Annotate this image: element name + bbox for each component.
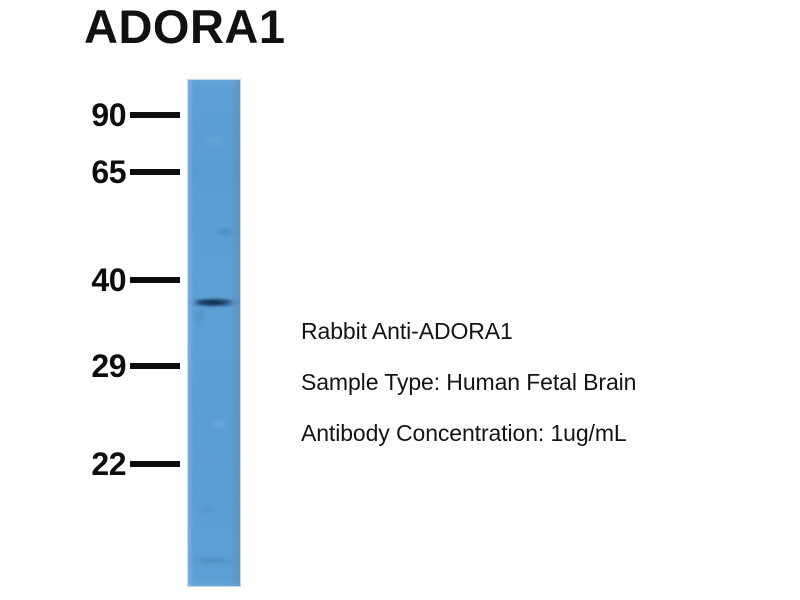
page-title: ADORA1 <box>84 2 285 51</box>
annotation-block: Rabbit Anti-ADORA1 Sample Type: Human Fe… <box>301 306 771 459</box>
ladder-label: 90 <box>64 99 126 131</box>
ladder-marker-29: 29 <box>64 349 184 383</box>
ladder-marker-90: 90 <box>64 98 184 132</box>
ladder-marker-40: 40 <box>64 263 184 297</box>
protein-band-primary-core <box>194 300 232 305</box>
annotation-sample-type: Sample Type: Human Fetal Brain <box>301 357 771 408</box>
annotation-concentration: Antibody Concentration: 1ug/mL <box>301 408 771 459</box>
ladder-marker-22: 22 <box>64 447 184 481</box>
ladder-dash-icon <box>130 461 180 467</box>
ladder-dash-icon <box>130 112 180 118</box>
protein-band-faint <box>190 556 238 565</box>
ladder-dash-icon <box>130 169 180 175</box>
ladder-marker-65: 65 <box>64 155 184 189</box>
blot-lane <box>188 80 240 586</box>
ladder-dash-icon <box>130 363 180 369</box>
annotation-antibody: Rabbit Anti-ADORA1 <box>301 306 771 357</box>
lane-background-texture <box>188 80 240 586</box>
ladder-label: 65 <box>64 156 126 188</box>
ladder-label: 40 <box>64 264 126 296</box>
ladder-label: 22 <box>64 448 126 480</box>
western-blot-figure: ADORA1 90 65 40 29 22 Rabbit Anti-ADO <box>0 0 800 600</box>
ladder-label: 29 <box>64 350 126 382</box>
ladder-dash-icon <box>130 277 180 283</box>
